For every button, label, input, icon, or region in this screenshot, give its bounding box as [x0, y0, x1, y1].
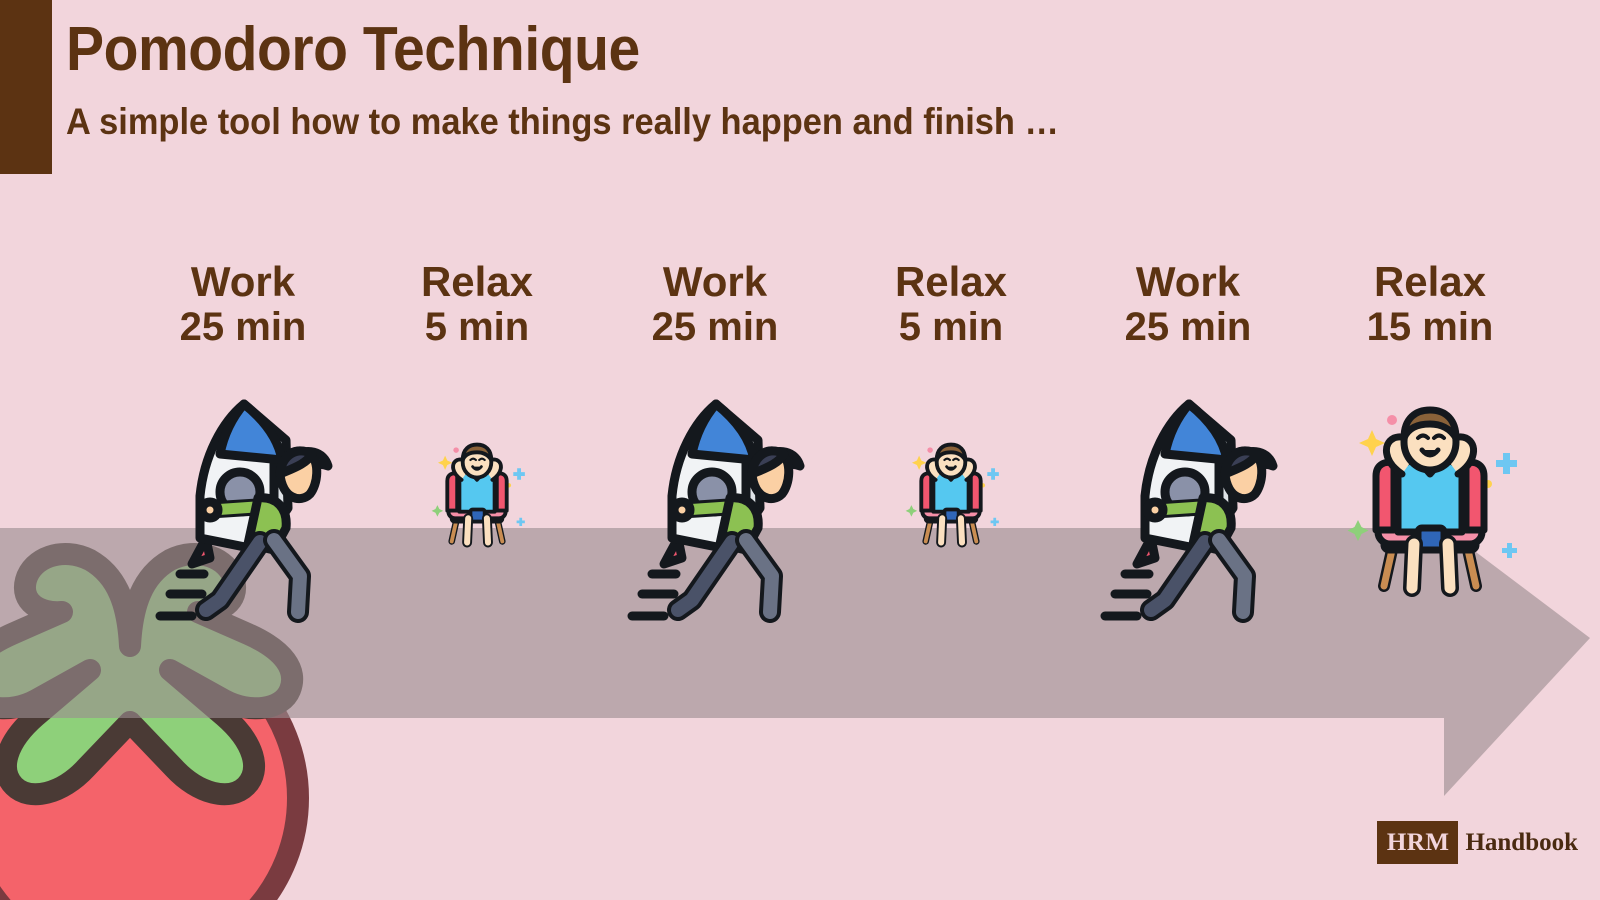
relax-chair-icon [428, 438, 527, 548]
step-name-label: Relax [1280, 258, 1580, 305]
accent-bar [0, 0, 52, 174]
header: Pomodoro Technique A simple tool how to … [66, 16, 1134, 145]
step-artwork-rocket-runner [148, 388, 338, 628]
rocket-runner-icon [620, 388, 810, 623]
step-artwork-relax-chair [1340, 398, 1520, 603]
logo-word: Handbook [1458, 821, 1582, 864]
step-artwork-relax-chair [428, 438, 527, 551]
step-duration-label: 15 min [1280, 305, 1580, 350]
step-artwork-relax-chair [902, 438, 1001, 551]
brand-logo: HRM Handbook [1377, 821, 1582, 864]
step-artwork-rocket-runner [1093, 388, 1283, 628]
logo-mark: HRM [1377, 821, 1459, 864]
page-title: Pomodoro Technique [66, 16, 1048, 84]
timeline-step-6: Relax15 min [1280, 258, 1580, 350]
step-artwork-rocket-runner [620, 388, 810, 628]
relax-chair-icon [1340, 398, 1520, 598]
page-subtitle: A simple tool how to make things really … [66, 100, 1059, 144]
relax-chair-icon [902, 438, 1001, 548]
infographic-canvas: Pomodoro Technique A simple tool how to … [0, 0, 1600, 900]
rocket-runner-icon [148, 388, 338, 623]
rocket-runner-icon [1093, 388, 1283, 623]
